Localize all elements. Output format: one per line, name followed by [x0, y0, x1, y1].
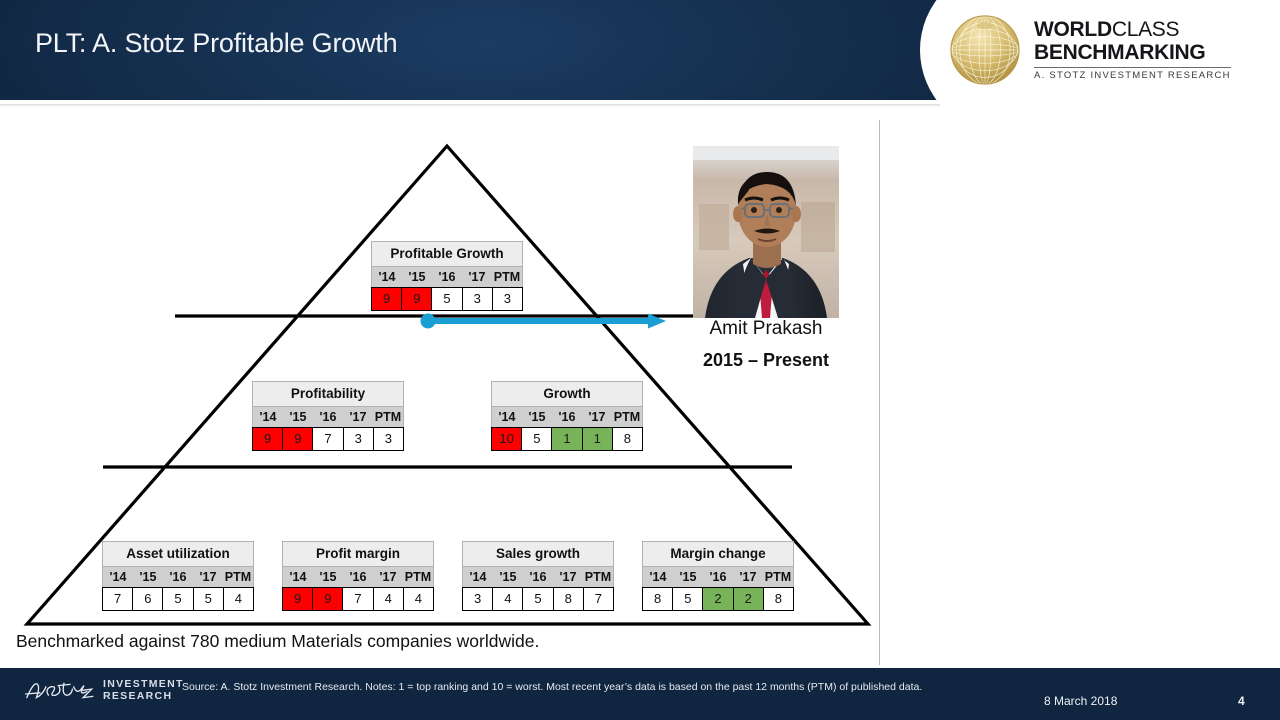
- year-cell: PTM: [373, 407, 403, 427]
- table-year-header: '14 '15 '16 '17 PTM: [371, 266, 523, 287]
- score-cell: 3: [492, 287, 523, 311]
- logo-word-world: WORLD: [1034, 18, 1112, 41]
- table-title: Profitable Growth: [371, 241, 523, 266]
- score-cell: 9: [282, 427, 312, 451]
- score-table-profit-margin[interactable]: Profit margin '14 '15 '16 '17 PTM 9 9 7 …: [282, 541, 434, 611]
- score-cell: 7: [583, 587, 614, 611]
- table-value-row: 8 5 2 2 8: [642, 587, 794, 611]
- footer-logo-line2: RESEARCH: [103, 691, 184, 703]
- score-cell: 6: [132, 587, 162, 611]
- score-cell: 7: [312, 427, 342, 451]
- score-cell: 3: [462, 287, 492, 311]
- brand-logo: WORLDCLASS BENCHMARKING A. STOTZ INVESTM…: [948, 8, 1258, 92]
- year-cell: PTM: [612, 407, 642, 427]
- table-year-header: '14 '15 '16 '17 PTM: [462, 566, 614, 587]
- year-cell: PTM: [223, 567, 253, 587]
- year-cell: PTM: [403, 567, 433, 587]
- year-cell: '17: [343, 407, 373, 427]
- score-cell: 1: [582, 427, 612, 451]
- header-shadow: [0, 104, 940, 107]
- year-cell: '14: [643, 567, 673, 587]
- table-year-header: '14 '15 '16 '17 PTM: [491, 406, 643, 427]
- logo-tagline: A. STOTZ INVESTMENT RESEARCH: [1034, 70, 1231, 81]
- score-cell: 5: [193, 587, 223, 611]
- table-year-header: '14 '15 '16 '17 PTM: [102, 566, 254, 587]
- score-cell: 7: [102, 587, 132, 611]
- score-table-profitable-growth[interactable]: Profitable Growth '14 '15 '16 '17 PTM 9 …: [371, 241, 523, 311]
- year-cell: '16: [432, 267, 462, 287]
- score-cell: 8: [612, 427, 643, 451]
- source-note: Source: A. Stotz Investment Research. No…: [182, 680, 962, 694]
- table-title: Growth: [491, 381, 643, 406]
- score-cell: 4: [373, 587, 403, 611]
- year-cell: '15: [673, 567, 703, 587]
- score-table-growth[interactable]: Growth '14 '15 '16 '17 PTM 10 5 1 1 8: [491, 381, 643, 451]
- year-cell: '14: [372, 267, 402, 287]
- year-cell: '17: [582, 407, 612, 427]
- table-title: Profitability: [252, 381, 404, 406]
- vertical-divider: [879, 120, 880, 665]
- year-cell: '14: [283, 567, 313, 587]
- footer-date: 8 March 2018: [1044, 694, 1117, 708]
- table-year-header: '14 '15 '16 '17 PTM: [282, 566, 434, 587]
- score-cell: 5: [162, 587, 192, 611]
- table-value-row: 7 6 5 5 4: [102, 587, 254, 611]
- logo-word-benchmarking: BENCHMARKING: [1034, 42, 1231, 65]
- slide-header: PLT: A. Stotz Profitable Growth: [0, 0, 1280, 100]
- table-value-row: 10 5 1 1 8: [491, 427, 643, 451]
- person-name: Amit Prakash: [660, 318, 872, 340]
- year-cell: '17: [462, 267, 492, 287]
- table-year-header: '14 '15 '16 '17 PTM: [642, 566, 794, 587]
- a-stotz-signature-icon: [22, 676, 94, 706]
- table-title: Profit margin: [282, 541, 434, 566]
- score-cell: 4: [403, 587, 434, 611]
- score-cell: 9: [371, 287, 401, 311]
- table-title: Asset utilization: [102, 541, 254, 566]
- year-cell: '16: [313, 407, 343, 427]
- score-cell: 5: [521, 427, 551, 451]
- score-cell: 9: [401, 287, 431, 311]
- year-cell: '16: [343, 567, 373, 587]
- year-cell: '14: [492, 407, 522, 427]
- year-cell: '17: [193, 567, 223, 587]
- page-title: PLT: A. Stotz Profitable Growth: [35, 28, 397, 59]
- trend-arrow-icon: [418, 312, 668, 330]
- score-cell: 5: [672, 587, 702, 611]
- score-table-margin-change[interactable]: Margin change '14 '15 '16 '17 PTM 8 5 2 …: [642, 541, 794, 611]
- score-cell: 8: [763, 587, 794, 611]
- year-cell: '17: [733, 567, 763, 587]
- year-cell: '16: [552, 407, 582, 427]
- year-cell: '14: [463, 567, 493, 587]
- year-cell: PTM: [583, 567, 613, 587]
- year-cell: PTM: [492, 267, 522, 287]
- score-table-asset-utilization[interactable]: Asset utilization '14 '15 '16 '17 PTM 7 …: [102, 541, 254, 611]
- table-value-row: 9 9 5 3 3: [371, 287, 523, 311]
- slide: PLT: A. Stotz Profitable Growth: [0, 0, 1280, 720]
- table-value-row: 3 4 5 8 7: [462, 587, 614, 611]
- score-table-sales-growth[interactable]: Sales growth '14 '15 '16 '17 PTM 3 4 5 8…: [462, 541, 614, 611]
- year-cell: '15: [493, 567, 523, 587]
- table-value-row: 9 9 7 3 3: [252, 427, 404, 451]
- year-cell: '15: [402, 267, 432, 287]
- year-cell: '15: [522, 407, 552, 427]
- logo-divider: [1034, 67, 1231, 68]
- score-cell: 9: [312, 587, 342, 611]
- benchmark-caption: Benchmarked against 780 medium Materials…: [16, 631, 539, 652]
- score-cell: 8: [642, 587, 672, 611]
- year-cell: '17: [373, 567, 403, 587]
- year-cell: '15: [133, 567, 163, 587]
- score-cell: 2: [733, 587, 763, 611]
- table-year-header: '14 '15 '16 '17 PTM: [252, 406, 404, 427]
- score-cell: 2: [702, 587, 732, 611]
- table-value-row: 9 9 7 4 4: [282, 587, 434, 611]
- score-cell: 4: [492, 587, 522, 611]
- score-cell: 3: [343, 427, 373, 451]
- year-cell: '15: [313, 567, 343, 587]
- year-cell: '14: [103, 567, 133, 587]
- score-table-profitability[interactable]: Profitability '14 '15 '16 '17 PTM 9 9 7 …: [252, 381, 404, 451]
- year-cell: '15: [283, 407, 313, 427]
- footer-brand: INVESTMENT RESEARCH: [22, 676, 184, 706]
- footer-page-number: 4: [1238, 694, 1245, 708]
- score-cell: 10: [491, 427, 521, 451]
- score-cell: 3: [462, 587, 492, 611]
- score-cell: 7: [342, 587, 372, 611]
- year-cell: '14: [253, 407, 283, 427]
- score-cell: 4: [223, 587, 254, 611]
- person-tenure: 2015 – Present: [660, 350, 872, 371]
- portrait-photo: [693, 146, 839, 318]
- score-cell: 1: [551, 427, 581, 451]
- score-cell: 3: [373, 427, 404, 451]
- score-cell: 8: [553, 587, 583, 611]
- year-cell: '16: [703, 567, 733, 587]
- year-cell: '16: [163, 567, 193, 587]
- table-title: Sales growth: [462, 541, 614, 566]
- year-cell: '16: [523, 567, 553, 587]
- score-cell: 9: [252, 427, 282, 451]
- year-cell: '17: [553, 567, 583, 587]
- score-cell: 5: [522, 587, 552, 611]
- globe-icon: [948, 13, 1022, 87]
- score-cell: 9: [282, 587, 312, 611]
- year-cell: PTM: [763, 567, 793, 587]
- logo-word-class: CLASS: [1112, 18, 1179, 41]
- table-title: Margin change: [642, 541, 794, 566]
- score-cell: 5: [431, 287, 461, 311]
